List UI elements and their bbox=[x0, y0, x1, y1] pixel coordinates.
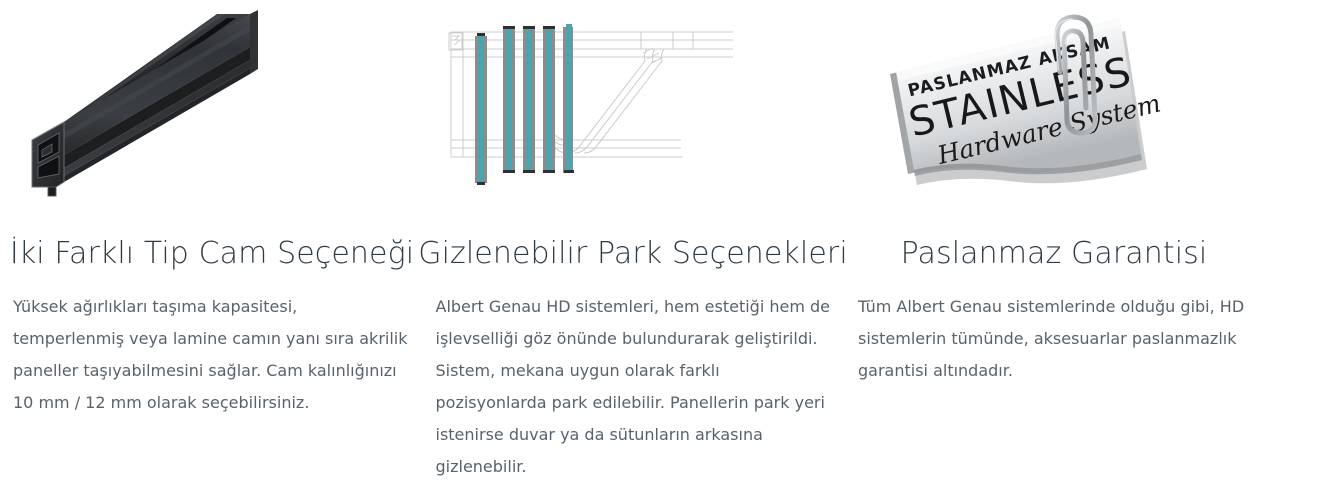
feature-column-cam-secenegi: İki Farklı Tip Cam Seçeneği Yüksek ağırl… bbox=[12, 0, 412, 483]
cad-park-diagram bbox=[433, 0, 833, 235]
feature-heading: Gizlenebilir Park Seçenekleri bbox=[418, 235, 848, 273]
feature-body-text: Albert Genau HD sistemleri, hem estetiği… bbox=[436, 291, 831, 483]
feature-column-paslanmaz-garantisi: PASLANMAZ AKSAM STAINLESS Hardware Syste… bbox=[854, 0, 1254, 483]
feature-body-text: Yüksek ağırlıkları taşıma kapasitesi, te… bbox=[13, 291, 411, 419]
feature-heading: Paslanmaz Garantisi bbox=[901, 235, 1208, 273]
feature-media-2 bbox=[433, 0, 833, 235]
feature-body-text: Tüm Albert Genau sistemlerinde olduğu gi… bbox=[858, 291, 1250, 387]
feature-column-park-secenekleri: Gizlenebilir Park Seçenekleri Albert Gen… bbox=[433, 0, 833, 483]
cad-panel-4 bbox=[543, 26, 555, 173]
feature-columns-row: İki Farklı Tip Cam Seçeneği Yüksek ağırl… bbox=[0, 0, 1324, 483]
feature-heading: İki Farklı Tip Cam Seçeneği bbox=[10, 235, 414, 273]
feature-media-1 bbox=[12, 0, 412, 235]
cad-panel-3 bbox=[523, 26, 535, 173]
cad-panel-1 bbox=[475, 33, 487, 185]
stainless-badge: PASLANMAZ AKSAM STAINLESS Hardware Syste… bbox=[854, 0, 1254, 235]
cad-panel-5 bbox=[563, 24, 574, 173]
feature-media-3: PASLANMAZ AKSAM STAINLESS Hardware Syste… bbox=[854, 0, 1254, 235]
aluminium-profile-photo bbox=[12, 0, 412, 235]
cad-panel-2 bbox=[503, 26, 515, 173]
